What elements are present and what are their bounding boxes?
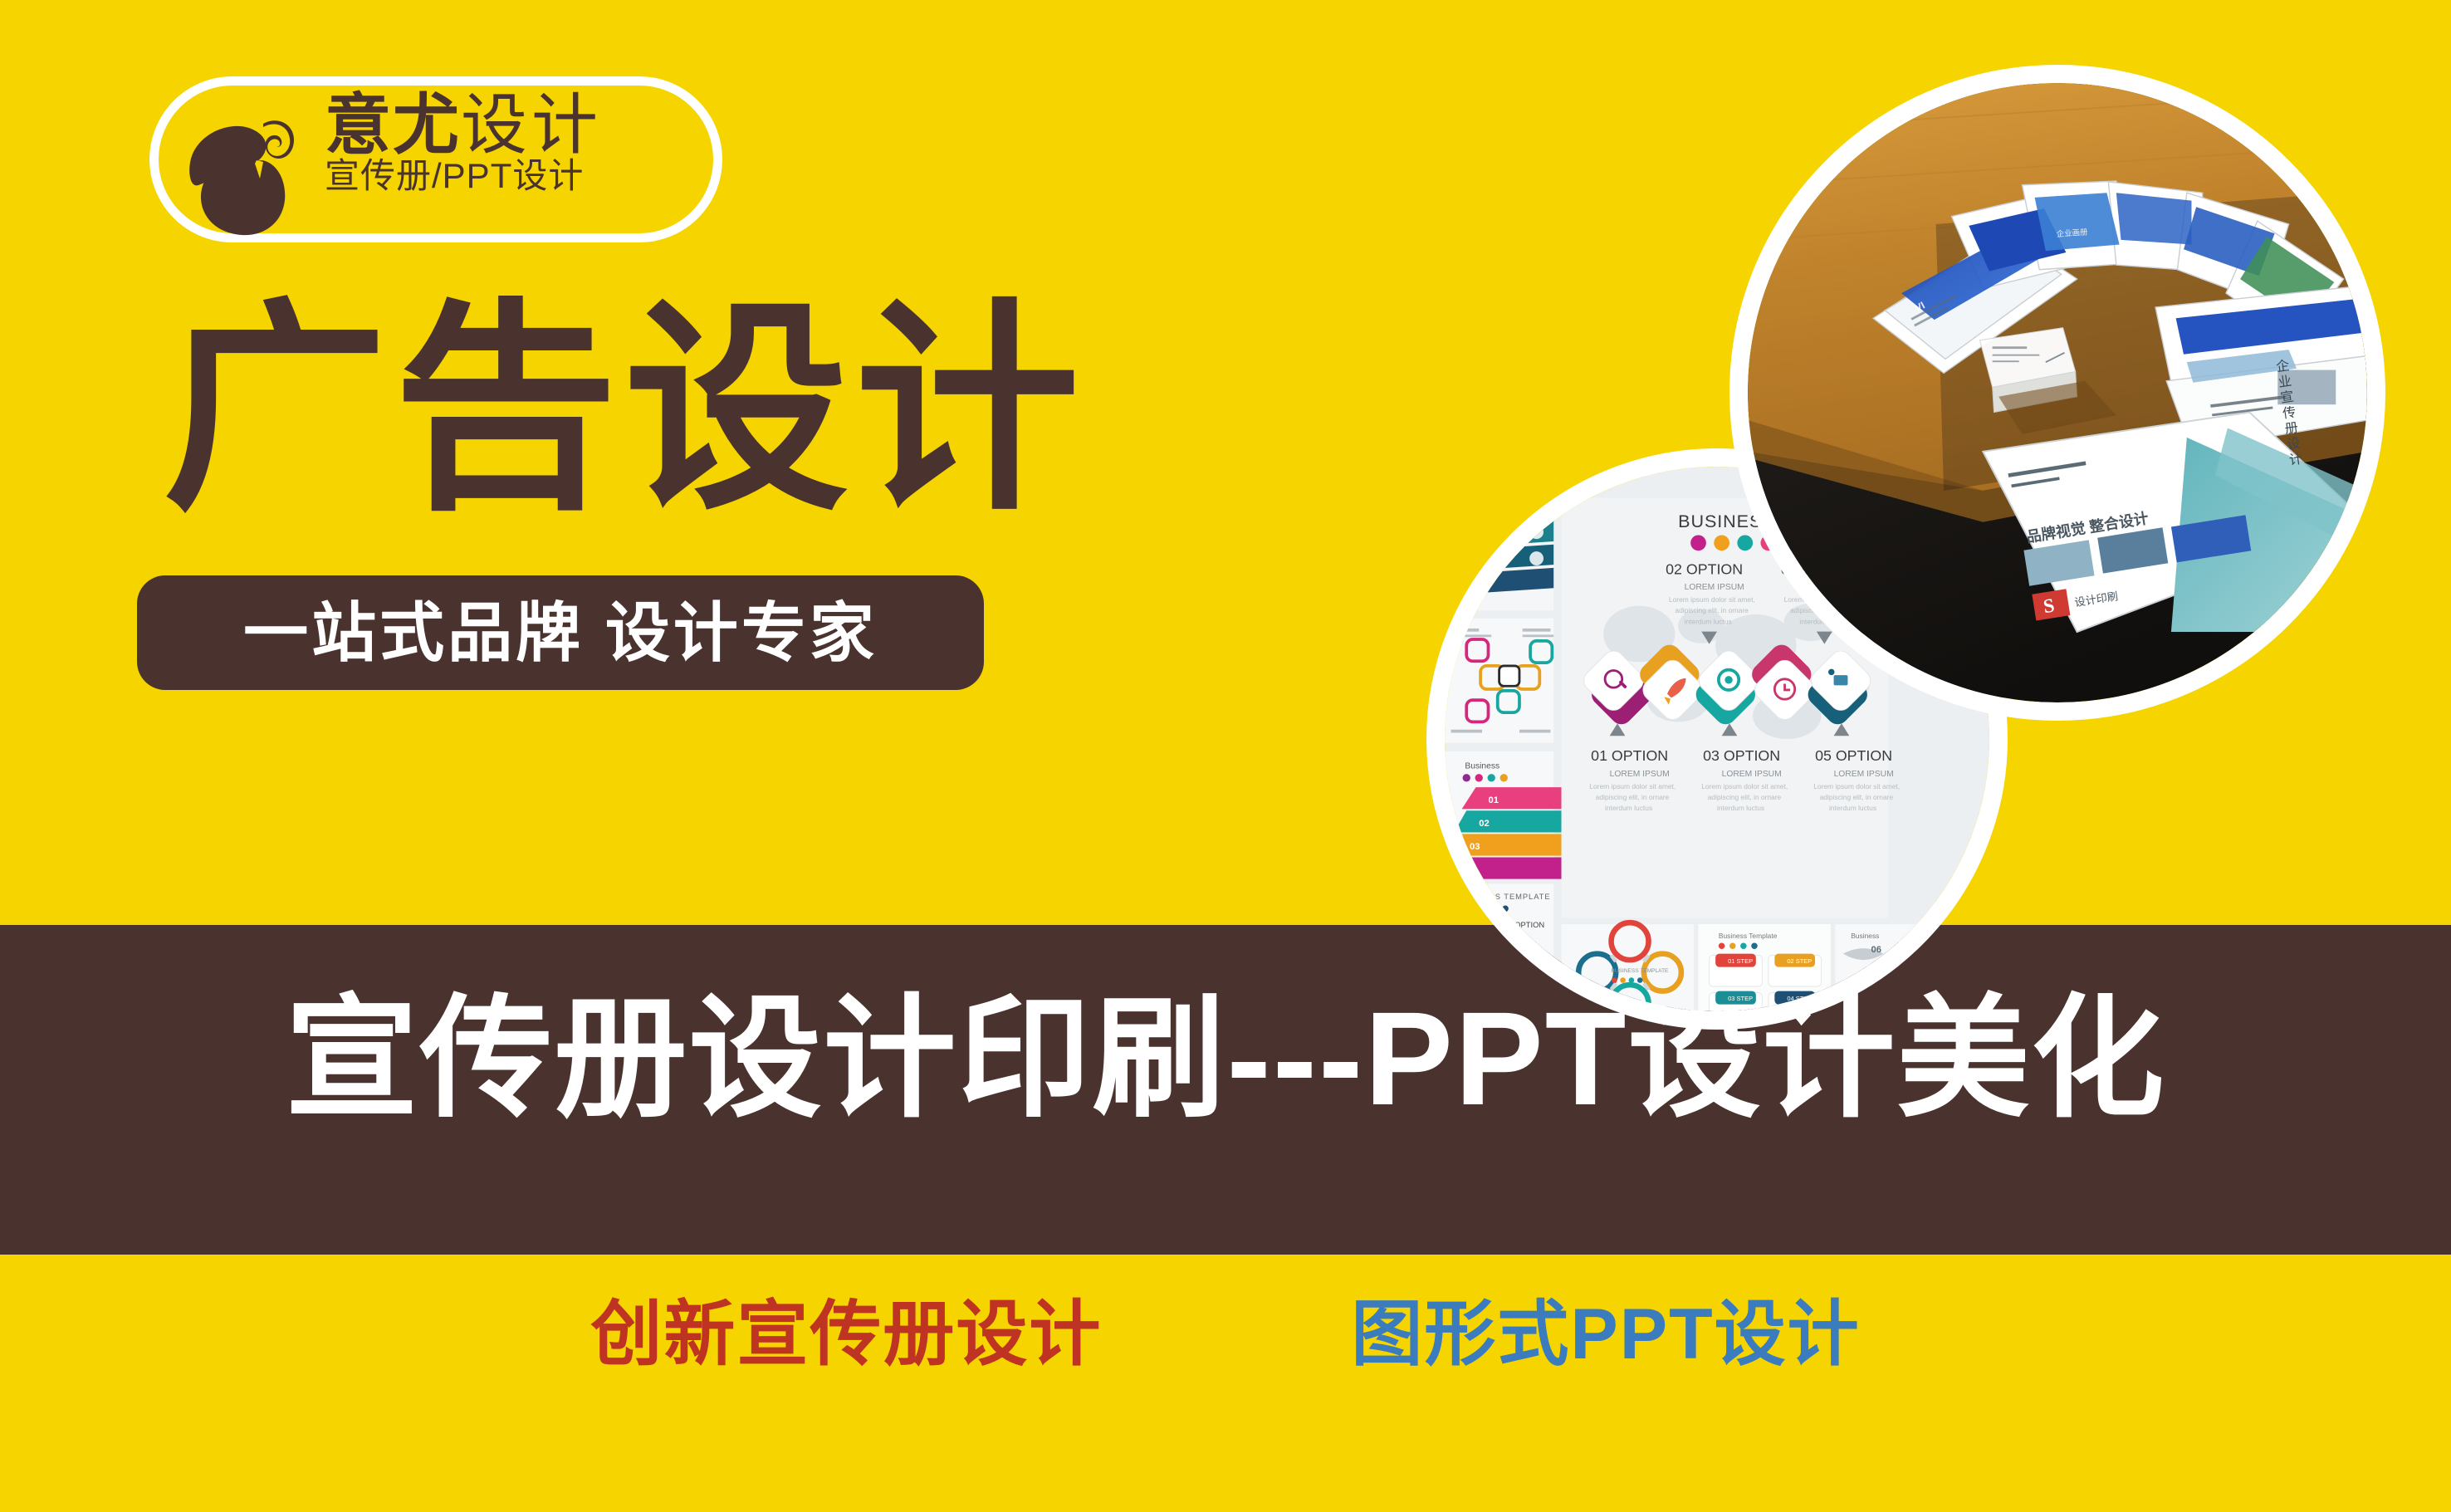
- page-title: 广告设计: [163, 299, 1086, 523]
- svg-text:adipiscing elit, in ornare: adipiscing elit, in ornare: [1708, 793, 1782, 801]
- svg-text:03 OPTION: 03 OPTION: [1703, 747, 1780, 764]
- tagline-badge-label: 一站式品牌 设计专家: [243, 600, 878, 665]
- svg-text:Business Template: Business Template: [1719, 932, 1778, 940]
- brand-subtitle: 宣传册/PPT设计: [325, 156, 584, 195]
- svg-text:02 STEP: 02 STEP: [1787, 957, 1812, 965]
- svg-text:02: 02: [1479, 819, 1490, 829]
- svg-text:02 OPTION: 02 OPTION: [1666, 560, 1743, 577]
- svg-text:03 STEP: 03 STEP: [1728, 995, 1753, 1002]
- svg-text:Lorem ipsum dolor sit amet,: Lorem ipsum dolor sit amet,: [1701, 782, 1788, 790]
- svg-text:adipiscing elit, in ornare: adipiscing elit, in ornare: [1596, 793, 1670, 801]
- gourd-sprout-icon: [177, 99, 310, 238]
- svg-text:Business: Business: [1851, 932, 1879, 940]
- svg-text:04: 04: [1460, 865, 1471, 875]
- svg-text:interdum luctus: interdum luctus: [1717, 804, 1764, 812]
- svg-text:04 STEP: 04 STEP: [1787, 995, 1812, 1002]
- svg-text:Lorem ipsum dolor sit amet,: Lorem ipsum dolor sit amet,: [1669, 595, 1755, 604]
- printed-brochures-image: VI 企业画册: [1748, 83, 2367, 702]
- svg-text:LOREM IPSUM: LOREM IPSUM: [1685, 583, 1744, 592]
- svg-text:04 OPTION: 04 OPTION: [1504, 921, 1544, 929]
- service-tag-brochure: 创新宣传册设计: [590, 1295, 1102, 1374]
- svg-text:06: 06: [1871, 945, 1882, 955]
- svg-text:Lorem ipsum dolor sit amet,: Lorem ipsum dolor sit amet,: [1813, 782, 1900, 790]
- svg-text:05 OPTION: 05 OPTION: [1815, 747, 1892, 764]
- svg-text:LOREM IPSUM: LOREM IPSUM: [1722, 770, 1782, 779]
- svg-text:interdum luctus: interdum luctus: [1685, 617, 1732, 625]
- brand-text-block: 意尤设计 宣传册/PPT设计: [325, 92, 715, 193]
- tagline-badge: 一站式品牌 设计专家: [137, 575, 984, 690]
- svg-text:adipiscing elit, in ornare: adipiscing elit, in ornare: [1675, 606, 1749, 614]
- svg-text:interdum luctus: interdum luctus: [1605, 804, 1652, 812]
- svg-text:LOREM IPSUM: LOREM IPSUM: [1610, 770, 1670, 779]
- svg-text:adipiscing elit, in ornare: adipiscing elit, in ornare: [1820, 793, 1894, 801]
- service-tag-ppt: 图形式PPT设计: [1351, 1295, 1860, 1374]
- svg-text:Lorem ipsum dolor sit amet,: Lorem ipsum dolor sit amet,: [1589, 782, 1676, 790]
- brand-name: 意尤设计: [325, 88, 602, 162]
- svg-text:LOREM IPSUM: LOREM IPSUM: [1834, 770, 1894, 779]
- svg-text:03: 03: [1470, 842, 1480, 852]
- svg-text:01: 01: [1488, 795, 1499, 805]
- highlight-band-text: 宣传册设计印刷---PPT设计美化: [0, 992, 2451, 1125]
- svg-text:interdum luctus: interdum luctus: [1829, 804, 1876, 812]
- printed-brochures-circle: VI 企业画册: [1729, 65, 2385, 721]
- svg-text:BUSINESS TEMPLATE: BUSINESS TEMPLATE: [1612, 968, 1670, 974]
- svg-text:01 OPTION: 01 OPTION: [1591, 747, 1668, 764]
- brand-logo-lockup: 意尤设计 宣传册/PPT设计: [149, 76, 722, 242]
- svg-text:Business: Business: [1465, 762, 1499, 771]
- svg-text:BUSINESS TEMPLATE: BUSINESS TEMPLATE: [1455, 893, 1550, 901]
- service-tag-row: 创新宣传册设计 图形式PPT设计: [0, 1295, 2451, 1374]
- promo-banner: 意尤设计 宣传册/PPT设计 广告设计 一站式品牌 设计专家: [0, 0, 2451, 1512]
- svg-text:01 STEP: 01 STEP: [1728, 957, 1753, 965]
